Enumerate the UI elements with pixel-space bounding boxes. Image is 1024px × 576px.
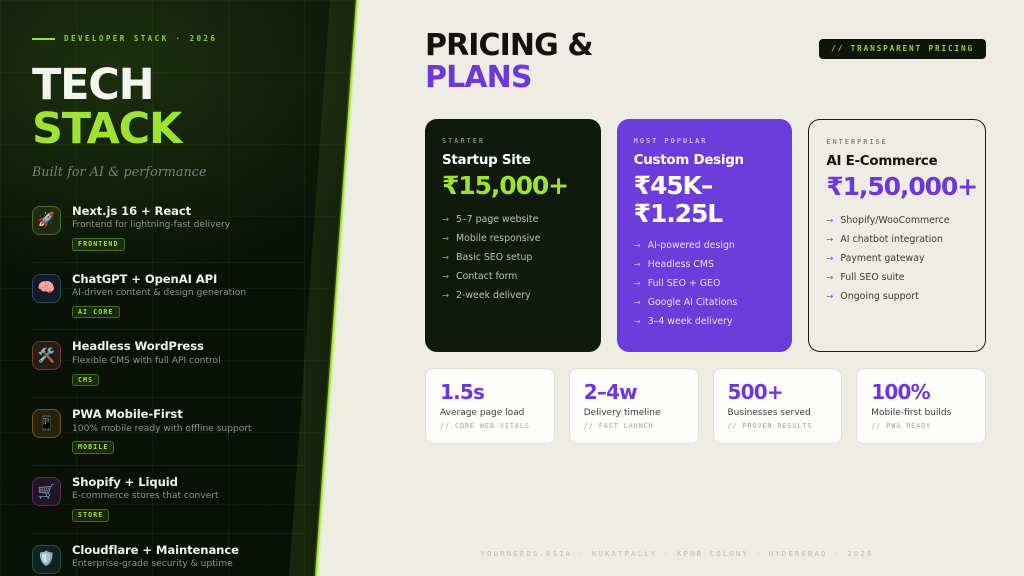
stack-item-list: 🚀 Next.js 16 + React Frontend for lightn… xyxy=(32,201,304,576)
card-kicker: MOST POPULAR xyxy=(634,138,776,145)
card-plan-name: Custom Design xyxy=(634,154,776,169)
feature-label: 2-week delivery xyxy=(456,290,531,301)
stat-label: Average page load xyxy=(440,409,540,419)
sidebar-title-line2: STACK xyxy=(32,109,330,150)
pricing-header: PRICING & PLANS // TRANSPARENT PRICING xyxy=(425,30,986,95)
stack-item-tag: CMS xyxy=(72,374,99,387)
feature-label: AI chatbot integration xyxy=(840,234,943,245)
pricing-card-starter[interactable]: STARTER Startup Site ₹15,000+ →5–7 page … xyxy=(425,119,601,353)
card-feature-list: →Shopify/WooCommerce →AI chatbot integra… xyxy=(826,215,968,301)
arrow-right-icon: → xyxy=(634,259,641,269)
pricing-card-most-popular[interactable]: MOST POPULAR Custom Design ₹45K–₹1.25L →… xyxy=(617,119,793,353)
stat-sublabel: // PROVEN RESULTS xyxy=(728,423,828,430)
stat-label: Delivery timeline xyxy=(584,409,684,419)
list-item: →Basic SEO setup xyxy=(442,252,584,263)
list-item: →Google AI Citations xyxy=(634,297,776,308)
stack-item-name: PWA Mobile-First xyxy=(72,408,304,421)
stack-item-desc: Flexible CMS with full API control xyxy=(72,356,304,367)
stack-item-name: Headless WordPress xyxy=(72,340,304,353)
page-title-line2: PLANS xyxy=(425,62,593,94)
sidebar-title: TECH STACK xyxy=(32,65,330,150)
pricing-card-enterprise[interactable]: ENTERPRISE AI E-Commerce ₹1,50,000+ →Sho… xyxy=(808,119,986,353)
eyebrow-label: DEVELOPER STACK · 2026 xyxy=(64,34,217,43)
slide-canvas: PRICING & PLANS // TRANSPARENT PRICING S… xyxy=(0,0,1024,576)
rule-icon xyxy=(32,38,55,40)
stack-item-tag: FRONTEND xyxy=(72,238,125,251)
stack-item-name: Cloudflare + Maintenance xyxy=(72,544,304,557)
feature-label: Contact form xyxy=(456,271,517,282)
feature-label: 3–4 week delivery xyxy=(648,316,733,327)
feature-label: Google AI Citations xyxy=(648,297,738,308)
stack-item-tag: STORE xyxy=(72,509,109,522)
list-item: →Headless CMS xyxy=(634,259,776,270)
list-item: →Full SEO suite xyxy=(826,272,968,283)
mobile-phone-icon: 📱 xyxy=(32,409,61,438)
arrow-right-icon: → xyxy=(634,278,641,288)
card-price: ₹1,50,000+ xyxy=(826,173,968,201)
feature-label: Basic SEO setup xyxy=(456,252,532,263)
sidebar-tagline: Built for AI & performance xyxy=(32,164,330,179)
arrow-right-icon: → xyxy=(634,316,641,326)
card-plan-name: Startup Site xyxy=(442,154,584,169)
list-item: →2-week delivery xyxy=(442,290,584,301)
card-feature-list: →AI-powered design →Headless CMS →Full S… xyxy=(634,240,776,326)
arrow-right-icon: → xyxy=(442,214,449,224)
stat-card-businesses-served: 500+ Businesses served // PROVEN RESULTS xyxy=(713,368,843,444)
list-item: →Payment gateway xyxy=(826,253,968,264)
stack-item-shopify[interactable]: 🛒 Shopify + Liquid E-commerce stores tha… xyxy=(32,465,304,533)
card-feature-list: →5–7 page website →Mobile responsive →Ba… xyxy=(442,214,584,300)
stack-item-name: Next.js 16 + React xyxy=(72,205,304,218)
stat-sublabel: // CORE WEB VITALS xyxy=(440,423,540,430)
feature-label: Mobile responsive xyxy=(456,233,540,244)
card-plan-name: AI E-Commerce xyxy=(826,155,968,170)
feature-label: Full SEO suite xyxy=(840,272,904,283)
list-item: →AI chatbot integration xyxy=(826,234,968,245)
arrow-right-icon: → xyxy=(442,290,449,300)
brain-icon: 🧠 xyxy=(32,274,61,303)
stack-item-cloudflare[interactable]: 🛡️ Cloudflare + Maintenance Enterprise-g… xyxy=(32,533,304,576)
stat-value: 500+ xyxy=(728,382,828,402)
card-price: ₹45K–₹1.25L xyxy=(634,172,776,228)
list-item: →Mobile responsive xyxy=(442,233,584,244)
arrow-right-icon: → xyxy=(634,297,641,307)
stack-item-desc: Frontend for lightning-fast delivery xyxy=(72,220,304,231)
list-item: →Contact form xyxy=(442,271,584,282)
rocket-icon: 🚀 xyxy=(32,206,61,235)
arrow-right-icon: → xyxy=(826,272,833,282)
arrow-right-icon: → xyxy=(634,240,641,250)
arrow-right-icon: → xyxy=(826,253,833,263)
sidebar-title-line1: TECH xyxy=(32,65,330,106)
stack-item-desc: E-commerce stores that convert xyxy=(72,491,304,502)
stat-label: Businesses served xyxy=(728,409,828,419)
list-item: →5–7 page website xyxy=(442,214,584,225)
stack-item-desc: 100% mobile ready with offline support xyxy=(72,424,304,435)
feature-label: AI-powered design xyxy=(648,240,735,251)
card-kicker: STARTER xyxy=(442,138,584,145)
feature-label: Shopify/WooCommerce xyxy=(840,215,949,226)
feature-label: Payment gateway xyxy=(840,253,924,264)
arrow-right-icon: → xyxy=(826,234,833,244)
page-title: PRICING & PLANS xyxy=(425,30,593,95)
stack-item-desc: Enterprise-grade security & uptime xyxy=(72,559,304,570)
list-item: →Full SEO + GEO xyxy=(634,278,776,289)
arrow-right-icon: → xyxy=(826,291,833,301)
shopping-cart-icon: 🛒 xyxy=(32,477,61,506)
stat-value: 1.5s xyxy=(440,382,540,402)
page-title-line1: PRICING & xyxy=(425,30,593,62)
card-kicker: ENTERPRISE xyxy=(826,139,968,146)
feature-label: Full SEO + GEO xyxy=(648,278,721,289)
list-item: →Ongoing support xyxy=(826,291,968,302)
list-item: →3–4 week delivery xyxy=(634,316,776,327)
stack-item-tag: MOBILE xyxy=(72,441,114,454)
stat-value: 100% xyxy=(871,382,971,402)
list-item: →AI-powered design xyxy=(634,240,776,251)
eyebrow: DEVELOPER STACK · 2026 xyxy=(32,34,330,43)
stat-card-page-load: 1.5s Average page load // CORE WEB VITAL… xyxy=(425,368,555,444)
stat-card-list: 1.5s Average page load // CORE WEB VITAL… xyxy=(425,368,986,444)
feature-label: Ongoing support xyxy=(840,291,918,302)
pricing-panel: PRICING & PLANS // TRANSPARENT PRICING S… xyxy=(360,0,1024,576)
feature-label: 5–7 page website xyxy=(456,214,538,225)
tech-stack-content: DEVELOPER STACK · 2026 TECH STACK Built … xyxy=(0,0,330,576)
arrow-right-icon: → xyxy=(442,252,449,262)
card-price: ₹15,000+ xyxy=(442,172,584,200)
stat-card-delivery-timeline: 2–4w Delivery timeline // FAST LAUNCH xyxy=(569,368,699,444)
stack-item-name: Shopify + Liquid xyxy=(72,476,304,489)
stat-sublabel: // PWA READY xyxy=(871,423,971,430)
arrow-right-icon: → xyxy=(442,271,449,281)
stack-item-wordpress[interactable]: 🛠️ Headless WordPress Flexible CMS with … xyxy=(32,329,304,397)
stack-item-nextjs[interactable]: 🚀 Next.js 16 + React Frontend for lightn… xyxy=(32,201,304,262)
list-item: →Shopify/WooCommerce xyxy=(826,215,968,226)
stat-sublabel: // FAST LAUNCH xyxy=(584,423,684,430)
feature-label: Headless CMS xyxy=(648,259,714,270)
stack-item-chatgpt[interactable]: 🧠 ChatGPT + OpenAI API AI-driven content… xyxy=(32,262,304,330)
stat-card-mobile-first: 100% Mobile-first builds // PWA READY xyxy=(856,368,986,444)
pricing-card-list: STARTER Startup Site ₹15,000+ →5–7 page … xyxy=(425,119,986,353)
stat-value: 2–4w xyxy=(584,382,684,402)
stack-item-pwa[interactable]: 📱 PWA Mobile-First 100% mobile ready wit… xyxy=(32,397,304,465)
stack-item-name: ChatGPT + OpenAI API xyxy=(72,273,304,286)
status-badge: // TRANSPARENT PRICING xyxy=(819,39,986,59)
tools-icon: 🛠️ xyxy=(32,341,61,370)
stat-label: Mobile-first builds xyxy=(871,409,971,419)
stack-item-desc: AI-driven content & design generation xyxy=(72,288,304,299)
shield-icon: 🛡️ xyxy=(32,545,61,574)
stack-item-tag: AI CORE xyxy=(72,306,120,319)
arrow-right-icon: → xyxy=(442,233,449,243)
arrow-right-icon: → xyxy=(826,215,833,225)
